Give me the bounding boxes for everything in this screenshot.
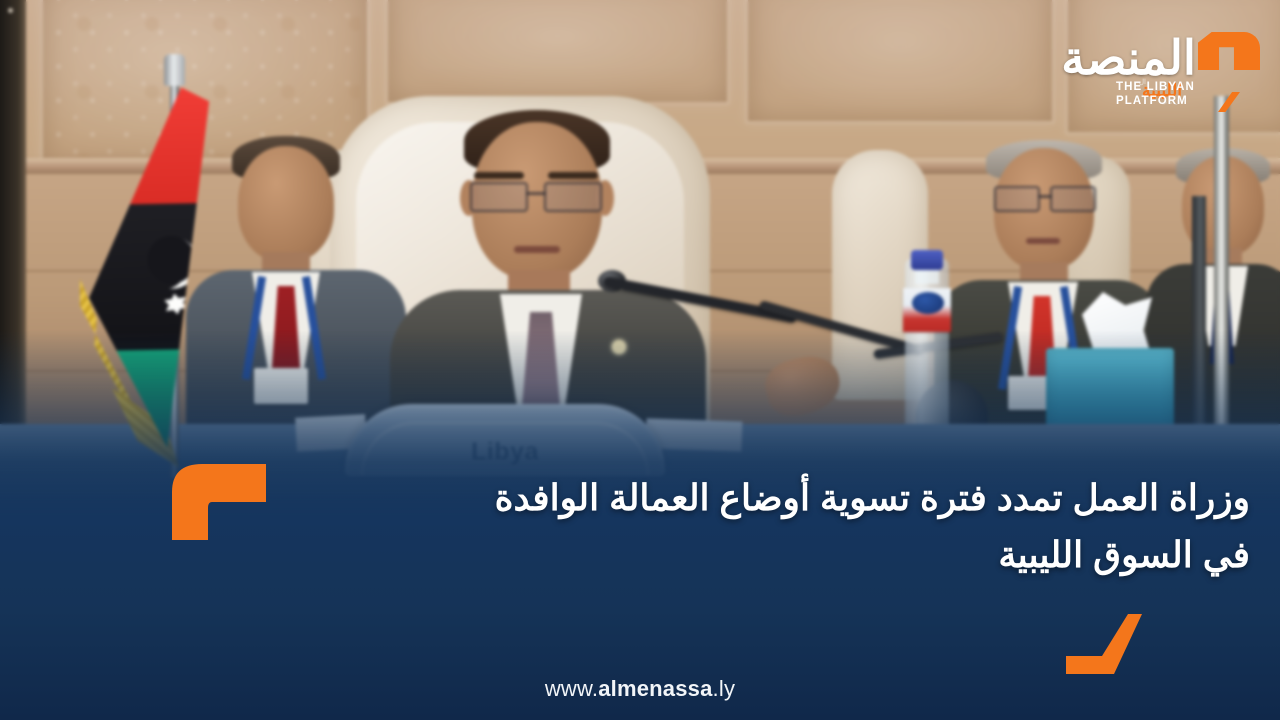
water-bottle-logo (912, 292, 944, 314)
logo-english-line2: PLATFORM (1116, 96, 1188, 108)
url-brand: almenassa (598, 676, 712, 701)
url-prefix: www. (545, 676, 598, 701)
orange-corner-bracket-bottom-right (1062, 612, 1154, 684)
wall-panel (745, 0, 1055, 124)
headline-line-1: وزراة العمل تمدد فترة تسوية أوضاع العمال… (270, 470, 1250, 527)
flag-band-red (83, 87, 215, 212)
mouth (1026, 238, 1060, 244)
water-bottle-cap (911, 250, 943, 270)
almenassa-logo[interactable]: المنصة ال الليبية ال نا ف THE LIBYAN PLA… (1068, 20, 1258, 116)
eyeglasses-bridge (1038, 195, 1052, 198)
orange-corner-bracket-top-left (168, 458, 266, 540)
eyeglasses-right-lens (1050, 186, 1096, 212)
wall-panel (385, 0, 730, 105)
eyeglasses-left-lens (470, 182, 528, 212)
website-url[interactable]: www.almenassa.ly (0, 676, 1280, 702)
logo-bracket-mark (1198, 32, 1260, 88)
headline: وزراة العمل تمدد فترة تسوية أوضاع العمال… (270, 470, 1250, 584)
flag-finial (164, 54, 185, 86)
logo-english-line1: THE LIBYAN (1116, 82, 1195, 94)
star-icon (163, 292, 187, 311)
news-graphic-card: Libya المنصة ال الليبية ال نا (0, 0, 1280, 720)
eyeglasses-bridge (526, 192, 546, 195)
eyeglasses-right-lens (544, 182, 602, 212)
eyebrow (474, 172, 524, 179)
eyebrow (548, 172, 598, 179)
url-suffix: .ly (713, 676, 736, 701)
headline-line-2: في السوق الليبية (270, 527, 1250, 584)
mouth (514, 246, 560, 253)
logo-arabic-wordmark: المنصة (1061, 34, 1196, 81)
eyeglasses-left-lens (994, 186, 1040, 212)
